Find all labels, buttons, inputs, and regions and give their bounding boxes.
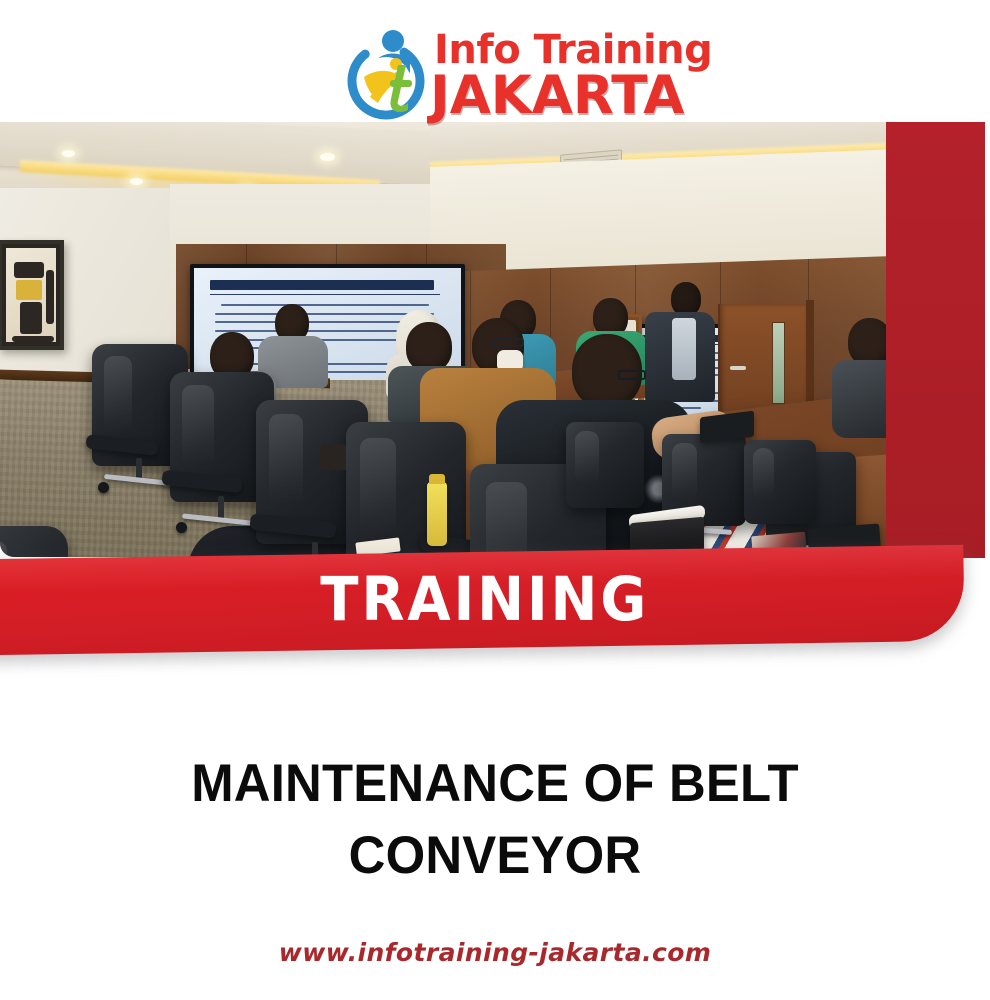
- photo-scene: [0, 122, 890, 557]
- bottle-cap: [429, 474, 445, 484]
- training-banner-label: TRAINING: [321, 569, 650, 631]
- poster-root: Info Training JAKARTA: [0, 0, 990, 1000]
- water-bottle: [427, 482, 447, 546]
- brand-logo[interactable]: Info Training JAKARTA: [336, 22, 681, 127]
- office-chair-foreground: [0, 526, 68, 557]
- eyeglasses-icon: [618, 370, 646, 380]
- office-chair: [744, 440, 816, 524]
- footer-website[interactable]: www.infotraining-jakarta.com: [0, 938, 990, 967]
- website-url-text[interactable]: www.infotraining-jakarta.com: [279, 938, 712, 967]
- page-title-line-1: MAINTENANCE OF BELT: [87, 748, 903, 820]
- participant-head: [848, 318, 890, 366]
- chair-caster: [98, 482, 109, 493]
- participant-head: [406, 322, 452, 372]
- page-title: MAINTENANCE OF BELT CONVEYOR: [70, 748, 920, 892]
- presenter-head: [671, 282, 701, 316]
- training-banner: TRAINING: [0, 545, 965, 655]
- training-session-photo: [0, 122, 890, 557]
- info-training-jakarta-logo-icon: [336, 25, 440, 125]
- office-chair: [566, 422, 644, 508]
- page-title-line-2: CONVEYOR: [87, 820, 903, 892]
- downlight: [320, 153, 335, 161]
- chair-caster: [176, 522, 187, 533]
- right-white-margin: [985, 0, 990, 1000]
- presenter-shirt: [672, 318, 696, 380]
- downlight: [62, 150, 75, 157]
- downlight: [130, 178, 143, 185]
- brand-line-jakarta: JAKARTA: [430, 69, 712, 123]
- framed-artwork: [0, 240, 64, 350]
- brand-wordmark: Info Training JAKARTA: [434, 27, 712, 123]
- speaker-unit: [320, 444, 346, 470]
- eyeglasses-icon: [492, 338, 524, 347]
- right-red-panel: [886, 122, 985, 558]
- participant-body: [832, 360, 890, 438]
